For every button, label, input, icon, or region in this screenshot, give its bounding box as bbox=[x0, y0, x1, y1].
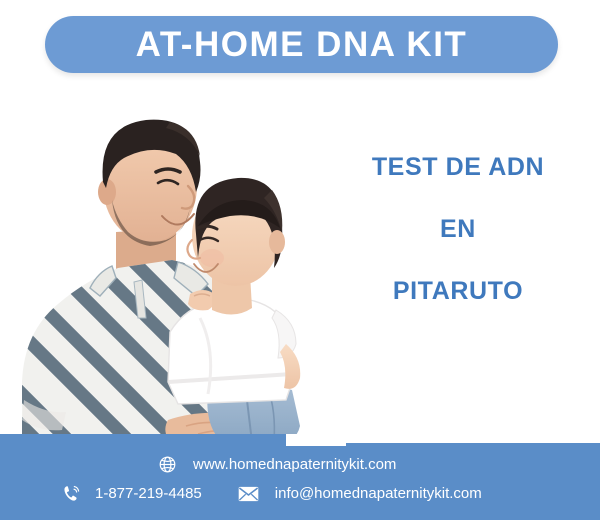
footer-content: www.homednapaternitykit.com 1-877-219-44… bbox=[0, 434, 600, 520]
footer-website-row: www.homednapaternitykit.com bbox=[158, 455, 396, 474]
page-title: AT-HOME DNA KIT bbox=[136, 27, 468, 62]
globe-icon bbox=[158, 455, 177, 474]
headline-block: TEST DE ADN EN PITARUTO bbox=[330, 155, 586, 304]
footer-email-text: info@homednapaternitykit.com bbox=[275, 486, 482, 501]
phone-icon bbox=[62, 484, 81, 503]
photo-illustration bbox=[0, 82, 330, 450]
promo-card: AT-HOME DNA KIT bbox=[0, 0, 600, 520]
footer-website-item[interactable]: www.homednapaternitykit.com bbox=[158, 455, 396, 474]
footer-bar: www.homednapaternitykit.com 1-877-219-44… bbox=[0, 434, 600, 520]
footer-email-item[interactable]: info@homednapaternitykit.com bbox=[238, 486, 482, 502]
headline-line-2: EN bbox=[330, 217, 586, 242]
headline-line-3: PITARUTO bbox=[330, 279, 586, 304]
father-holding-toddler-photo bbox=[0, 82, 330, 450]
header-banner: AT-HOME DNA KIT bbox=[45, 16, 558, 73]
headline-line-1: TEST DE ADN bbox=[330, 155, 586, 180]
footer-contact-row: 1-877-219-4485 info@homednapaternitykit.… bbox=[62, 484, 482, 503]
footer-website-text: www.homednapaternitykit.com bbox=[193, 457, 396, 472]
footer-phone-item[interactable]: 1-877-219-4485 bbox=[62, 484, 202, 503]
footer-phone-text: 1-877-219-4485 bbox=[95, 486, 202, 501]
envelope-icon bbox=[238, 486, 259, 502]
